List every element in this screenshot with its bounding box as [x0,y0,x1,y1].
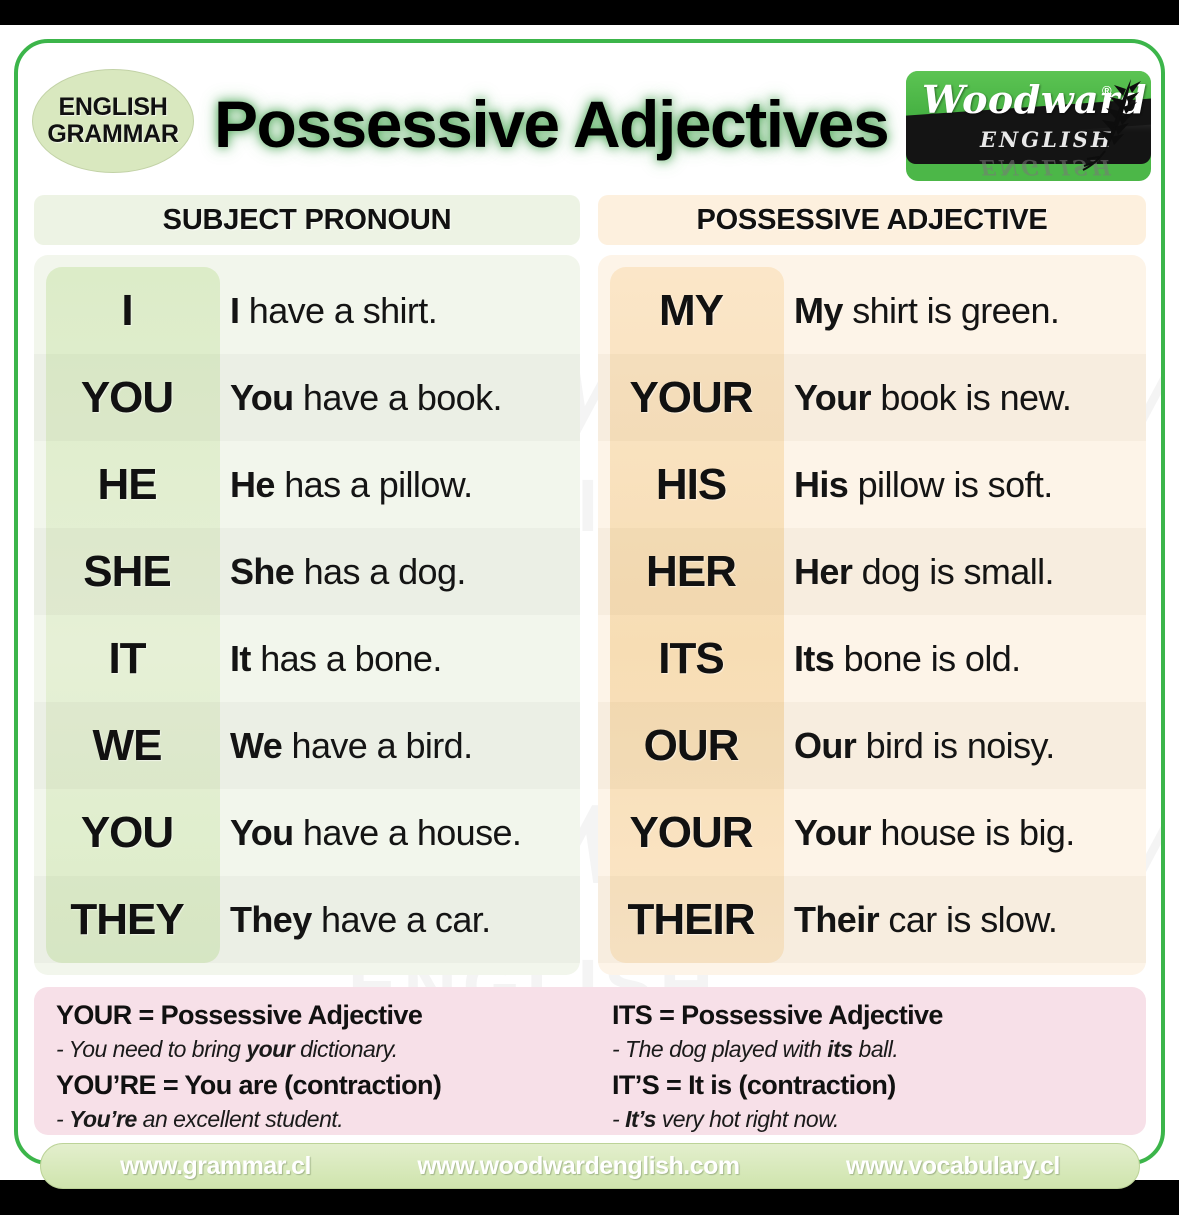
notes-its-column: ITS = Possessive Adjective - The dog pla… [590,987,1146,1135]
woodward-english-logo: Woodward ® ENGLISH ENGLISH [906,71,1151,181]
example-rest: pillow is soft. [848,464,1052,505]
subject-pronoun-table: I I have a shirt. YOU You have a book. H… [34,255,580,975]
example-keyword: Our [794,725,856,766]
example-keyword: Your [794,812,871,853]
example-rest: bird is noisy. [856,725,1054,766]
adjective-example: Your house is big. [784,812,1146,854]
example-keyword: His [794,464,848,505]
notes-panel: YOUR = Possessive Adjective - You need t… [34,987,1146,1135]
pronoun-key: HE [34,460,220,510]
example-keyword: You [230,812,294,853]
adjective-example: Your book is new. [784,377,1146,419]
badge-line-english: ENGLISH [58,94,167,121]
pronoun-key: WE [34,721,220,771]
example-rest: car is slow. [879,899,1057,940]
column-header-possessive-adjective: POSSESSIVE ADJECTIVE [598,195,1146,245]
table-row: HER Her dog is small. [598,528,1146,615]
pronoun-example: I have a shirt. [220,290,580,332]
link-woodwardenglish-com[interactable]: www.woodwardenglish.com [417,1152,739,1181]
example-rest: dog is small. [852,551,1054,592]
table-row: YOUR Your house is big. [598,789,1146,876]
adjective-key: THEIR [598,895,784,945]
poster-frame: Woodward ENGLISH Woodward ENGLISH Woodwa… [14,39,1165,1165]
adjective-example: Its bone is old. [784,638,1146,680]
note-example-pre: - [612,1106,625,1132]
adjective-example: Her dog is small. [784,551,1146,593]
table-row: ITS Its bone is old. [598,615,1146,702]
pronoun-example: You have a book. [220,377,580,419]
adjective-key: YOUR [598,808,784,858]
table-row: YOU You have a book. [34,354,580,441]
example-rest: have a car. [312,899,491,940]
table-row: IT It has a bone. [34,615,580,702]
example-rest: bone is old. [834,638,1020,679]
note-example-post: very hot right now. [656,1106,839,1132]
example-rest: house is big. [871,812,1075,853]
adjective-key: HER [598,547,784,597]
note-example-it-is: - It’s very hot right now. [612,1103,1146,1136]
pronoun-example: You have a house. [220,812,580,854]
adjective-key: MY [598,286,784,336]
note-example-post: dictionary. [294,1036,398,1062]
example-rest: have a bird. [282,725,472,766]
example-rest: book is new. [871,377,1071,418]
adjective-key: HIS [598,460,784,510]
note-title-youre: YOU’RE = You are (contraction) [56,1067,590,1103]
example-rest: has a dog. [294,551,466,592]
adjective-example: My shirt is green. [784,290,1146,332]
pronoun-rows: I I have a shirt. YOU You have a book. H… [34,267,580,963]
example-keyword: She [230,551,294,592]
example-rest: have a book. [294,377,502,418]
possessive-adjective-table: MY My shirt is green. YOUR Your book is … [598,255,1146,975]
example-keyword: It [230,638,251,679]
example-keyword: I [230,290,239,331]
example-keyword: Her [794,551,852,592]
note-example-keyword: It’s [625,1106,656,1132]
pronoun-key: YOU [34,808,220,858]
note-title-it-is: IT’S = It is (contraction) [612,1067,1146,1103]
pronoun-key: THEY [34,895,220,945]
page-title: Possessive Adjectives [214,79,904,169]
table-row: YOUR Your book is new. [598,354,1146,441]
adjective-example: Their car is slow. [784,899,1146,941]
example-rest: have a house. [294,812,522,853]
footer-links-bar: www.grammar.cl www.woodwardenglish.com w… [40,1143,1140,1189]
pronoun-key: I [34,286,220,336]
adjective-example: His pillow is soft. [784,464,1146,506]
table-row: SHE She has a dog. [34,528,580,615]
pronoun-example: They have a car. [220,899,580,941]
note-title-your: YOUR = Possessive Adjective [56,997,590,1033]
note-example-pre: - [56,1106,69,1132]
table-row: OUR Our bird is noisy. [598,702,1146,789]
link-vocabulary-cl[interactable]: www.vocabulary.cl [846,1152,1060,1181]
pronoun-example: We have a bird. [220,725,580,767]
table-row: I I have a shirt. [34,267,580,354]
table-row: MY My shirt is green. [598,267,1146,354]
note-example-youre: - You’re an excellent student. [56,1103,590,1136]
adjective-key: YOUR [598,373,784,423]
table-row: THEY They have a car. [34,876,580,963]
english-grammar-badge: ENGLISH GRAMMAR [32,69,194,173]
example-rest: have a shirt. [239,290,437,331]
poster-header: ENGLISH GRAMMAR Possessive Adjectives Wo… [18,43,1161,183]
page-background: Woodward ENGLISH Woodward ENGLISH Woodwa… [0,25,1179,1180]
pronoun-key: SHE [34,547,220,597]
note-example-its: - The dog played with its ball. [612,1033,1146,1066]
example-keyword: Their [794,899,879,940]
table-row: YOU You have a house. [34,789,580,876]
example-keyword: They [230,899,312,940]
example-rest: has a pillow. [275,464,473,505]
fern-icon [1069,73,1147,179]
table-row: THEIR Their car is slow. [598,876,1146,963]
note-example-pre: - You need to bring [56,1036,246,1062]
example-keyword: Your [794,377,871,418]
note-example-pre: - The dog played with [612,1036,827,1062]
table-row: HE He has a pillow. [34,441,580,528]
table-row: HIS His pillow is soft. [598,441,1146,528]
table-row: WE We have a bird. [34,702,580,789]
example-keyword: My [794,290,843,331]
note-example-your: - You need to bring your dictionary. [56,1033,590,1066]
adjective-key: OUR [598,721,784,771]
screenshot-canvas: Woodward ENGLISH Woodward ENGLISH Woodwa… [0,0,1179,1215]
adjective-rows: MY My shirt is green. YOUR Your book is … [598,267,1146,963]
example-keyword: We [230,725,282,766]
example-keyword: Its [794,638,834,679]
column-header-subject-pronoun: SUBJECT PRONOUN [34,195,580,245]
note-example-post: ball. [853,1036,899,1062]
notes-your-column: YOUR = Possessive Adjective - You need t… [34,987,590,1135]
pronoun-key: YOU [34,373,220,423]
pronoun-example: She has a dog. [220,551,580,593]
example-rest: has a bone. [251,638,442,679]
note-example-post: an excellent student. [137,1106,343,1132]
note-example-keyword: its [827,1036,852,1062]
pronoun-key: IT [34,634,220,684]
badge-line-grammar: GRAMMAR [47,121,178,148]
adjective-key: ITS [598,634,784,684]
note-title-its: ITS = Possessive Adjective [612,997,1146,1033]
note-example-keyword: You’re [69,1106,137,1132]
example-keyword: You [230,377,294,418]
note-example-keyword: your [246,1036,294,1062]
example-rest: shirt is green. [843,290,1060,331]
adjective-example: Our bird is noisy. [784,725,1146,767]
example-keyword: He [230,464,275,505]
pronoun-example: It has a bone. [220,638,580,680]
link-grammar-cl[interactable]: www.grammar.cl [120,1152,311,1181]
pronoun-example: He has a pillow. [220,464,580,506]
